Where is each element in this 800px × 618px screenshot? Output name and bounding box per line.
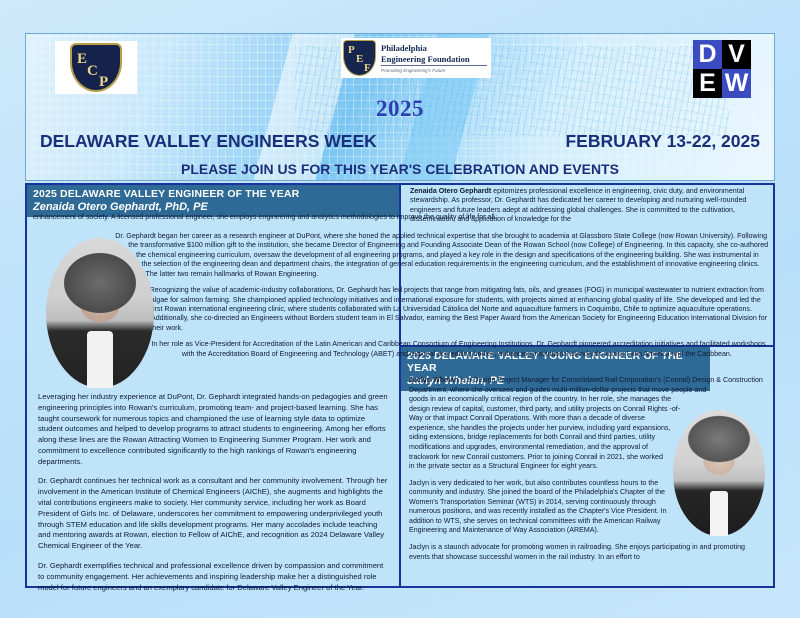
dvew-letter-d: D [693, 40, 722, 69]
yeoy-paragraph-3: Jaclyn is a staunch advocate for promoti… [409, 543, 767, 562]
eoy-paragraph-6: Dr. Gephardt exemplifies technical and p… [38, 561, 390, 593]
dvew-logo: D V E W [693, 40, 751, 98]
pef-tagline: Promoting Engineering's Future [381, 68, 487, 73]
pef-line-2: Engineering Foundation [381, 54, 487, 64]
eoy-paragraph-4: Leveraging her industry experience at Du… [38, 392, 390, 467]
jaclyn-whelan-photo [673, 410, 765, 536]
engineer-of-year-intro-continuation: enhancement of society. A licensed profe… [27, 213, 773, 222]
engineer-of-year-intro-bold: Zenaida Otero Gephardt [410, 187, 491, 195]
dvew-letter-e: E [693, 69, 722, 98]
engineer-of-year-biography-lower: Leveraging her industry experience at Du… [30, 392, 398, 602]
pef-logo: P E F Philadelphia Engineering Foundatio… [341, 38, 491, 78]
banner-title-row: DELAWARE VALLEY ENGINEERS WEEK FEBRUARY … [40, 131, 760, 152]
ecp-shield-icon: E C P [70, 43, 122, 92]
event-subheading: PLEASE JOIN US FOR THIS YEAR'S CELEBRATI… [26, 161, 774, 177]
banner-year: 2025 [26, 96, 774, 122]
header-banner: E C P P E F Philadelphia Engineering Fou… [25, 33, 775, 181]
event-title: DELAWARE VALLEY ENGINEERS WEEK [40, 131, 377, 152]
ecp-logo: E C P [55, 41, 137, 94]
ecp-letter-e: E [77, 52, 87, 67]
zenaida-gephardt-photo [46, 238, 154, 388]
engineer-of-year-award-title: 2025 DELAWARE VALLEY ENGINEER OF THE YEA… [33, 188, 393, 200]
ecp-letter-c: C [87, 64, 98, 79]
pef-shield-icon: P E F [343, 40, 376, 76]
engineer-of-year-biography: Dr. Gephardt began her career as a resea… [27, 232, 775, 362]
young-engineer-biography: Jaclyn Whelan is a Design Project Manage… [403, 376, 775, 584]
eoy-paragraph-5: Dr. Gephardt continues her technical wor… [38, 476, 390, 551]
dvew-letter-v: V [722, 40, 751, 69]
pef-letter-p: P [348, 45, 355, 56]
ecp-letter-p: P [99, 75, 108, 90]
pef-divider [381, 65, 487, 66]
dvew-letter-w: W [722, 69, 751, 98]
pef-letter-f: F [364, 63, 371, 74]
yeoy-intro-bold: Jaclyn Whelan [409, 376, 458, 384]
pef-line-1: Philadelphia [381, 43, 487, 53]
event-dates: FEBRUARY 13-22, 2025 [565, 131, 760, 152]
engineer-of-year-name: Zenaida Otero Gephardt, PhD, PE [33, 201, 393, 213]
pef-logo-text: Philadelphia Engineering Foundation Prom… [376, 43, 487, 73]
pef-letter-e: E [356, 54, 363, 65]
